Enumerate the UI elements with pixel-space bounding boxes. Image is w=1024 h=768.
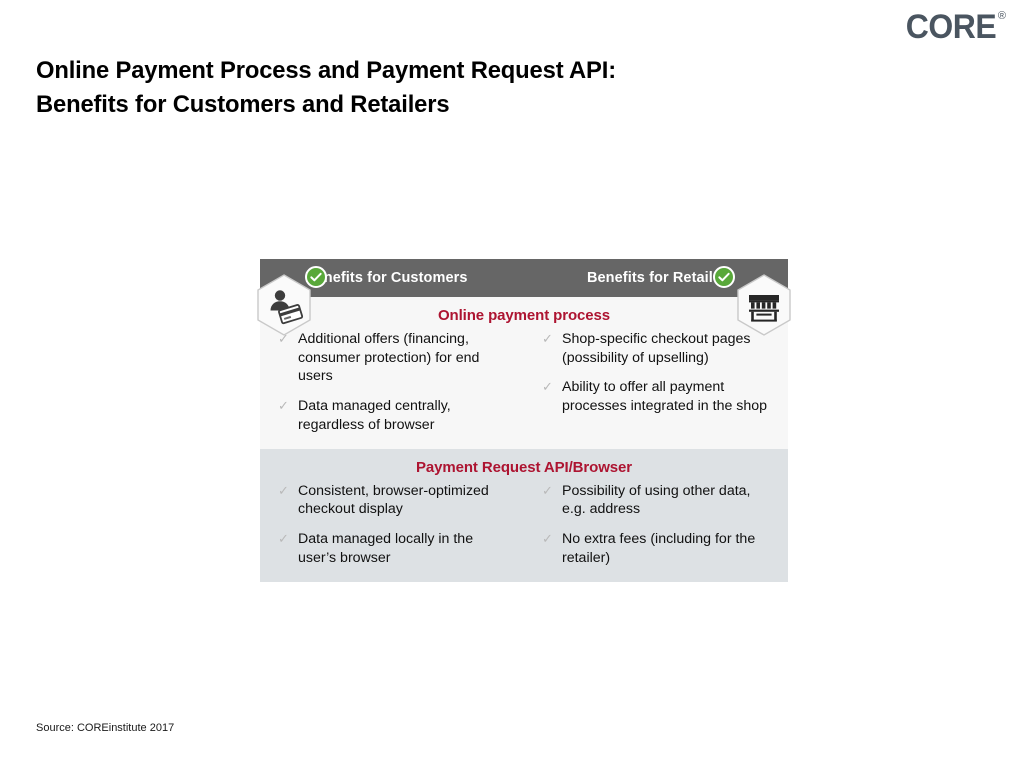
green-check-badge-customers-icon	[305, 266, 327, 288]
panel-header: Benefits for Customers Benefits for Reta…	[260, 259, 788, 297]
list-item: ✓ Additional offers (financing, consumer…	[278, 330, 512, 386]
green-check-badge-retailers-icon	[713, 266, 735, 288]
list-item-label: Shop-specific checkout pages (possibilit…	[562, 331, 751, 366]
list-item: ✓ Data managed centrally, regardless of …	[278, 397, 512, 434]
list-item-label: Additional offers (financing, consumer p…	[298, 331, 479, 384]
shop-storefront-icon	[736, 274, 792, 336]
section-online-payment-process: Online payment process ✓ Additional offe…	[260, 297, 788, 449]
check-bullet-icon: ✓	[542, 330, 553, 347]
section-payment-request-api: Payment Request API/Browser ✓ Consistent…	[260, 449, 788, 582]
section-title-online-payment-process: Online payment process	[260, 297, 788, 330]
core-logo: CORE ®	[900, 10, 1006, 44]
retailers-column-section-2: ✓ Possibility of using other data, e.g. …	[524, 482, 788, 568]
customers-column-section-1: ✓ Additional offers (financing, consumer…	[260, 330, 524, 435]
list-item-label: Data managed centrally, regardless of br…	[298, 398, 451, 433]
section-columns: ✓ Consistent, browser-optimized checkout…	[260, 482, 788, 582]
section-title-payment-request-api: Payment Request API/Browser	[260, 449, 788, 482]
registered-trademark-icon: ®	[998, 11, 1006, 22]
customers-column-section-2: ✓ Consistent, browser-optimized checkout…	[260, 482, 524, 568]
check-bullet-icon: ✓	[542, 530, 553, 547]
source-note: Source: COREinstitute 2017	[36, 722, 174, 734]
list-item: ✓ Consistent, browser-optimized checkout…	[278, 482, 512, 519]
header-label-customers: Benefits for Customers	[305, 270, 468, 286]
check-bullet-icon: ✓	[542, 482, 553, 499]
list-item: ✓ No extra fees (including for the retai…	[542, 530, 774, 567]
page-title-line-1: Online Payment Process and Payment Reque…	[36, 54, 773, 88]
logo-wordmark: CORE	[905, 10, 995, 44]
list-item: ✓ Ability to offer all payment processes…	[542, 378, 774, 415]
check-bullet-icon: ✓	[278, 397, 289, 414]
retailers-column-section-1: ✓ Shop-specific checkout pages (possibil…	[524, 330, 788, 435]
customer-card-icon	[256, 274, 312, 336]
customers-benefit-list-2: ✓ Consistent, browser-optimized checkout…	[278, 482, 512, 568]
benefits-panel: Benefits for Customers Benefits for Reta…	[260, 259, 788, 582]
check-bullet-icon: ✓	[278, 482, 289, 499]
section-columns: ✓ Additional offers (financing, consumer…	[260, 330, 788, 449]
retailers-benefit-list-1: ✓ Shop-specific checkout pages (possibil…	[542, 330, 774, 416]
list-item: ✓ Possibility of using other data, e.g. …	[542, 482, 774, 519]
page-title-line-2: Benefits for Customers and Retailers	[36, 88, 773, 122]
list-item-label: Data managed locally in the user’s brows…	[298, 531, 473, 566]
list-item-label: Possibility of using other data, e.g. ad…	[562, 483, 750, 518]
check-bullet-icon: ✓	[542, 378, 553, 395]
customers-benefit-list-1: ✓ Additional offers (financing, consumer…	[278, 330, 512, 435]
list-item-label: No extra fees (including for the retaile…	[562, 531, 755, 566]
list-item-label: Ability to offer all payment processes i…	[562, 379, 767, 414]
list-item: ✓ Data managed locally in the user’s bro…	[278, 530, 512, 567]
page-title: Online Payment Process and Payment Reque…	[36, 54, 773, 122]
check-bullet-icon: ✓	[278, 530, 289, 547]
retailers-benefit-list-2: ✓ Possibility of using other data, e.g. …	[542, 482, 774, 568]
list-item-label: Consistent, browser-optimized checkout d…	[298, 483, 489, 518]
